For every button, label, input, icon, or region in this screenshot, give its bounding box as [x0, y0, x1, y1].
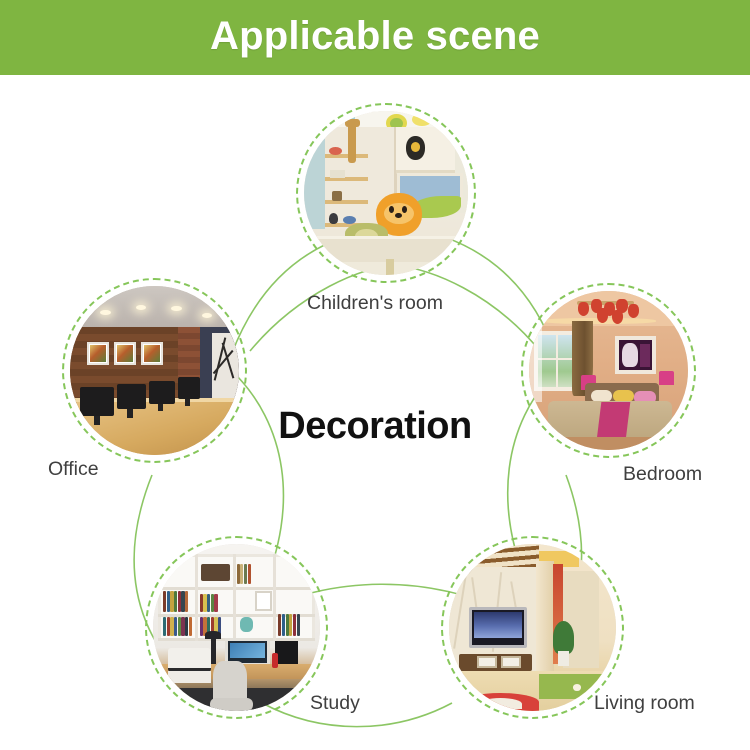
scene-caption-bedroom: Bedroom [623, 463, 702, 486]
scene-node-study[interactable] [145, 536, 328, 719]
childrens-room-photo [304, 111, 468, 275]
scene-caption-study: Study [310, 692, 360, 715]
scene-node-children[interactable] [296, 103, 476, 283]
study-photo [153, 544, 320, 711]
applicable-scene-diagram: Decoration Children's room [0, 75, 750, 750]
page-title: Applicable scene [0, 0, 750, 72]
scene-caption-living: Living room [594, 692, 695, 715]
center-label: Decoration [0, 405, 750, 448]
scene-caption-office: Office [48, 458, 99, 481]
living-room-photo [449, 544, 616, 711]
scene-caption-children: Children's room [307, 292, 443, 315]
header-banner: Applicable scene [0, 0, 750, 75]
